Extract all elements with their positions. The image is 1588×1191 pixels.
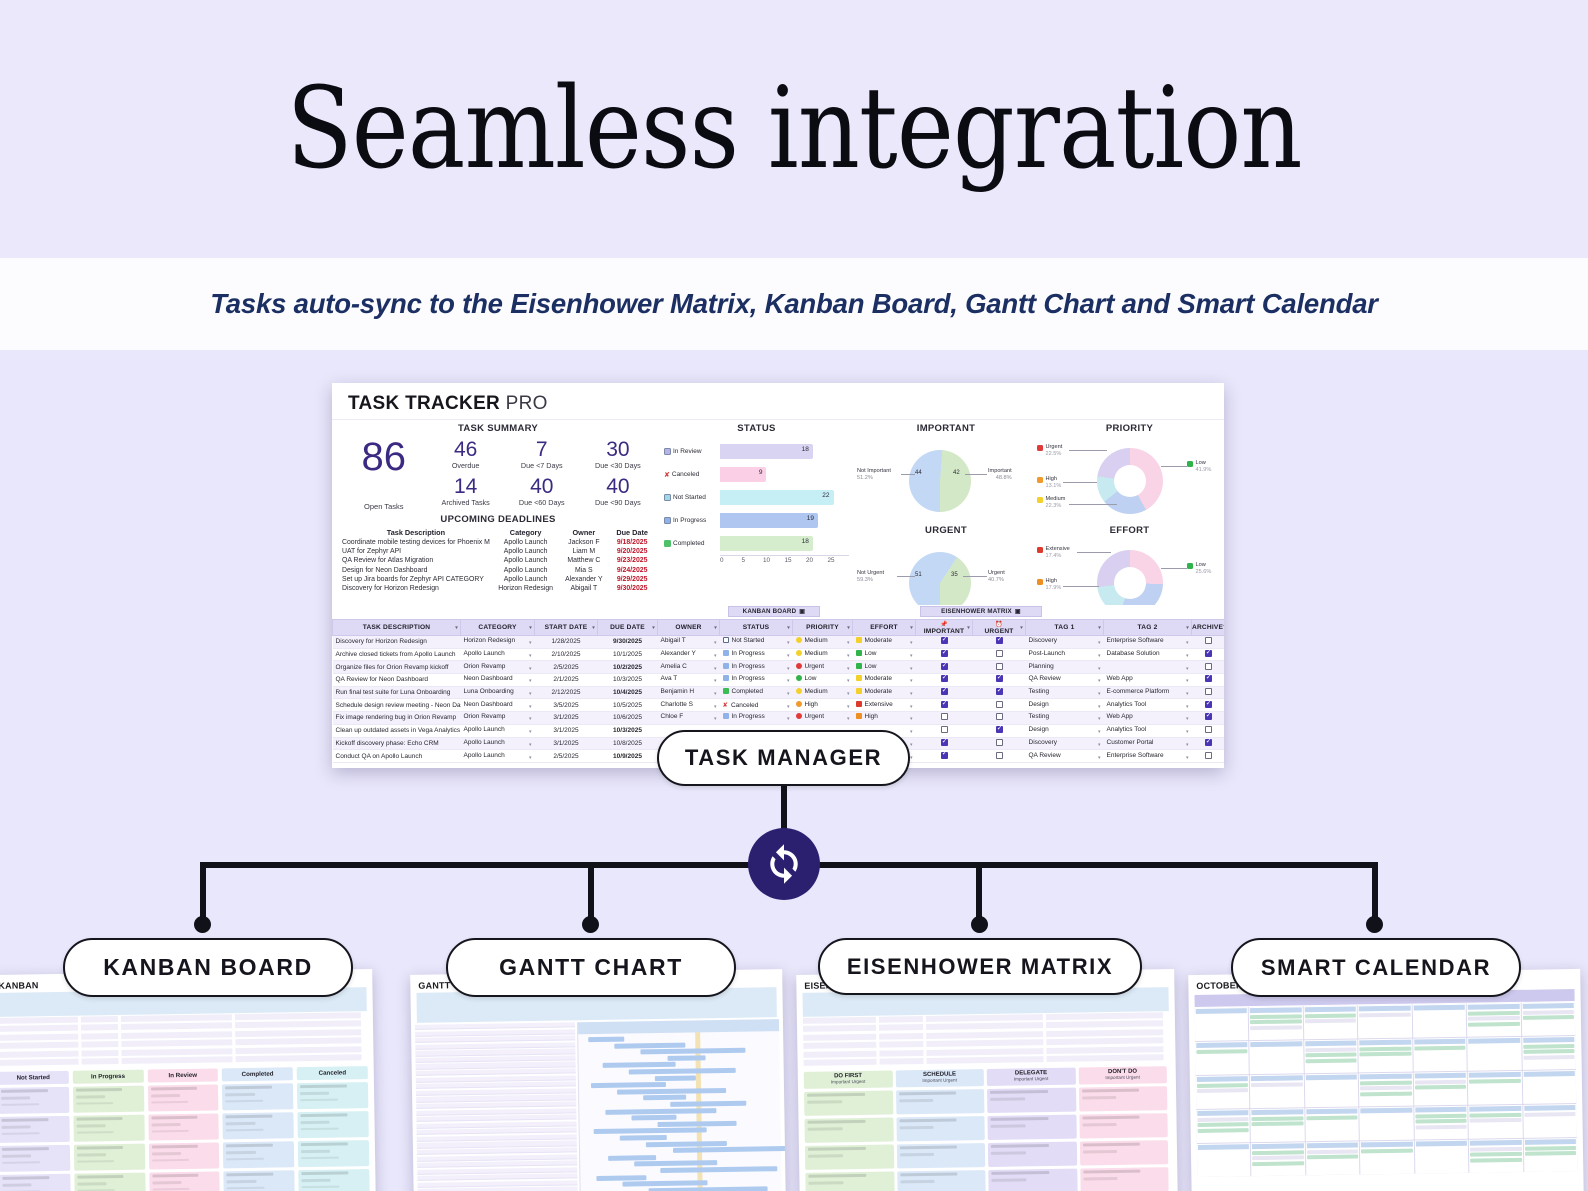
checkbox[interactable] [941, 663, 948, 670]
kanban-card[interactable] [148, 1142, 219, 1169]
connector-gantt [588, 862, 594, 924]
node-task-manager[interactable]: TASK MANAGER [657, 730, 910, 786]
eisenhower-quadrant[interactable]: SCHEDULEImportant Urgent [895, 1069, 986, 1191]
hero-banner: Seamless integration [0, 0, 1588, 258]
gantt-task-list [415, 1022, 578, 1191]
gantt-bar [670, 1101, 746, 1107]
kpi-cell: 7Due <7 Days [504, 438, 580, 475]
status-bar-row: In Progress 19 [664, 509, 849, 532]
gantt-bar [667, 1055, 705, 1061]
checkbox[interactable] [1205, 637, 1212, 644]
eisenhower-card[interactable] [987, 1088, 1076, 1113]
calendar-day-cell[interactable] [1251, 1108, 1305, 1142]
priority-legend-medium: Medium22.3% [1037, 496, 1065, 510]
upcoming-deadlines-table: Task Description Category Owner Due Date… [340, 527, 656, 593]
kanban-card[interactable] [74, 1173, 145, 1191]
grid-col-urgent[interactable]: ⏰URGENT▾ [973, 620, 1026, 636]
checkbox[interactable] [941, 701, 948, 708]
kanban-card[interactable] [148, 1113, 219, 1140]
eisenhower-card[interactable] [805, 1171, 894, 1191]
table-row: Coordinate mobile testing devices for Ph… [340, 538, 656, 547]
gantt-bar [672, 1146, 785, 1153]
grid-header-row: TASK DESCRIPTION▾CATEGORY▾START DATE▾DUE… [333, 620, 1225, 636]
grid-col-archive[interactable]: ARCHIVE? [1192, 620, 1225, 636]
calendar-day-cell[interactable] [1196, 1075, 1250, 1109]
eisenhower-summary-rows [797, 1011, 1176, 1066]
grid-col-task-description[interactable]: TASK DESCRIPTION▾ [333, 620, 461, 636]
kanban-card[interactable] [223, 1141, 294, 1168]
checkbox[interactable] [996, 675, 1003, 682]
checkbox[interactable] [996, 739, 1003, 746]
checkbox[interactable] [1205, 650, 1212, 657]
calendar-day-cell[interactable] [1306, 1141, 1360, 1175]
node-smart-calendar[interactable]: SMART CALENDAR [1231, 938, 1521, 997]
gantt-timeline [577, 1019, 782, 1191]
table-row: Design for Neon DashboardApollo LaunchMi… [340, 566, 656, 575]
checkbox[interactable] [996, 637, 1003, 644]
grid-tabs: KANBAN BOARD ▣ EISENHOWER MATRIX ▣ [332, 605, 1224, 619]
status-chart-panel: STATUS In Review 18✘Canceled 9Not Starte… [662, 420, 857, 605]
calendar-grid [1195, 1002, 1578, 1177]
gantt-bar [629, 1068, 736, 1075]
col-owner: Owner [559, 527, 608, 538]
gantt-timeline-header [578, 1019, 779, 1034]
gantt-bar [655, 1075, 695, 1081]
kanban-card[interactable] [0, 1116, 70, 1143]
kpi-cell: 46Overdue [428, 438, 504, 475]
calendar-day-cell[interactable] [1358, 1005, 1412, 1039]
calendar-day-cell[interactable] [1523, 1104, 1577, 1138]
tab-kanban-board[interactable]: KANBAN BOARD ▣ [728, 606, 820, 617]
kanban-card[interactable] [73, 1115, 144, 1142]
kpi-open-tasks: 86 Open Tasks [340, 438, 428, 511]
status-bar-row: ✘Canceled 9 [664, 463, 849, 486]
kanban-card[interactable] [298, 1169, 369, 1191]
calendar-day-cell[interactable] [1359, 1073, 1413, 1107]
sync-refresh-icon [748, 828, 820, 900]
status-bar-row: In Review 18 [664, 440, 849, 463]
gantt-bar [632, 1115, 676, 1121]
checkbox[interactable] [996, 701, 1003, 708]
calendar-day-cell[interactable] [1196, 1109, 1250, 1143]
calendar-day-cell[interactable] [1412, 1004, 1466, 1038]
kpi-cell: 40Due <60 Days [504, 475, 580, 512]
eisenhower-card[interactable] [988, 1169, 1077, 1191]
important-pie-graphic [909, 450, 971, 512]
checkbox[interactable] [996, 713, 1003, 720]
kanban-summary-rows [0, 1011, 374, 1066]
checkbox[interactable] [1205, 663, 1212, 670]
table-row: Discovery for Horizon RedesignHorizon Re… [340, 584, 656, 593]
calendar-day-cell[interactable] [1521, 1002, 1575, 1036]
grid-col-category[interactable]: CATEGORY▾ [461, 620, 535, 636]
priority-donut: Urgent22.5% High13.1% Medium22.3% Low41.… [1035, 438, 1224, 523]
kpi-grid: 86 Open Tasks 46Overdue 7Due <7 Days 30D… [340, 438, 656, 511]
node-eisenhower-matrix[interactable]: EISENHOWER MATRIX [818, 938, 1142, 995]
urgent-pie-label-right: Urgent40.7% [988, 570, 1005, 584]
kanban-card[interactable] [224, 1170, 295, 1191]
grid-col-important[interactable]: 📌IMPORTANT▾ [916, 620, 973, 636]
checkbox[interactable] [1205, 726, 1212, 733]
table-row: Set up Jira boards for Zephyr API CATEGO… [340, 575, 656, 584]
page-title: Seamless integration [286, 73, 1301, 185]
table-row[interactable]: Discovery for Horizon RedesignHorizon Re… [333, 636, 1225, 649]
status-bar-row: Not Started 22 [664, 486, 849, 509]
table-row[interactable]: Archive closed tickets from Apollo Launc… [333, 648, 1225, 661]
calendar-day-cell[interactable] [1522, 1070, 1576, 1104]
connector-root-vertical [781, 786, 787, 832]
gantt-bar [641, 1048, 746, 1055]
eisenhower-card[interactable] [896, 1143, 985, 1168]
calendar-day-cell[interactable] [1359, 1039, 1413, 1073]
kanban-card[interactable] [149, 1171, 220, 1191]
checkbox[interactable] [1205, 713, 1212, 720]
dashboard-card: TASK TRACKER PRO TASK SUMMARY 86 Open Ta… [332, 383, 1224, 768]
eisenhower-card[interactable] [987, 1115, 1076, 1140]
calendar-day-cell[interactable] [1195, 1041, 1249, 1075]
table-row: UAT for Zephyr APIApollo LaunchLiam M9/2… [340, 547, 656, 556]
task-summary-heading: TASK SUMMARY [340, 423, 656, 434]
grid-col-start-date[interactable]: START DATE▾ [535, 620, 598, 636]
checkbox[interactable] [996, 663, 1003, 670]
priority-legend-low: Low41.9% [1187, 460, 1211, 474]
gantt-bar [646, 1141, 726, 1147]
connector-knob [582, 916, 599, 933]
status-bar-row: Completed 18 [664, 532, 849, 555]
checkbox[interactable] [1205, 752, 1212, 759]
eisenhower-card[interactable] [1079, 1113, 1168, 1138]
gantt-bar [620, 1135, 666, 1141]
checkbox[interactable] [996, 752, 1003, 759]
priority-legend-urgent: Urgent22.5% [1037, 444, 1062, 458]
kanban-card[interactable] [148, 1084, 219, 1111]
checkbox[interactable] [941, 688, 948, 695]
status-axis: 0510152025 [720, 555, 849, 564]
gantt-bar [644, 1095, 686, 1101]
urgent-pie-value-left: 51 [915, 572, 922, 578]
effort-legend-low: Low25.6% [1187, 562, 1211, 576]
table-row: QA Review for Atlas MigrationApollo Laun… [340, 556, 656, 565]
calendar-day-cell[interactable] [1250, 1040, 1304, 1074]
urgent-pie-label-left: Not Urgent59.3% [857, 570, 884, 584]
connector-calendar [1372, 862, 1378, 924]
kpi-open-value: 86 [362, 438, 407, 476]
kanban-column[interactable]: In Review [147, 1068, 221, 1191]
important-pie-title: IMPORTANT [857, 423, 1035, 434]
important-pie-label-left: Not Important51.2% [857, 468, 891, 482]
kpi-cell: 30Due <30 Days [580, 438, 656, 475]
table-row[interactable]: Organize files for Orion Revamp kickoffO… [333, 661, 1225, 674]
grid-col-tag[interactable]: TAG 1▾ [1026, 620, 1104, 636]
calendar-day-cell[interactable] [1250, 1074, 1304, 1108]
calendar-day-cell[interactable] [1414, 1106, 1468, 1140]
gantt-bar [649, 1186, 768, 1191]
grid-col-due-date[interactable]: DUE DATE▾ [598, 620, 658, 636]
grid-col-priority[interactable]: PRIORITY▾ [793, 620, 853, 636]
table-row[interactable]: Schedule design review meeting - Neon Da… [333, 699, 1225, 712]
col-task-description: Task Description [340, 527, 492, 538]
important-pie: Not Important51.2% 44 42 Important48.8% [857, 438, 1035, 523]
kanban-preview-card[interactable]: KANBAN Not StartedIn ProgressIn ReviewCo… [0, 969, 376, 1191]
gantt-bar [603, 1062, 675, 1068]
eisenhower-card[interactable] [805, 1144, 894, 1169]
node-kanban-board[interactable]: KANBAN BOARD [63, 938, 353, 997]
checkbox[interactable] [941, 726, 948, 733]
priority-donut-title: PRIORITY [1035, 423, 1224, 434]
dashboard-title: TASK TRACKER PRO [348, 393, 548, 414]
priority-legend-high: High13.1% [1037, 476, 1061, 490]
checkbox[interactable] [941, 739, 948, 746]
checkbox[interactable] [1205, 675, 1212, 682]
eisenhower-card[interactable] [1079, 1140, 1168, 1165]
dashboard-body: TASK SUMMARY 86 Open Tasks 46Overdue 7Du… [332, 419, 1224, 605]
gantt-bar [608, 1155, 656, 1161]
dashboard-title-light: PRO [506, 393, 548, 414]
gantt-bar [623, 1180, 707, 1186]
link-icon: ▣ [799, 608, 805, 615]
connector-knob [194, 916, 211, 933]
calendar-day-cell[interactable] [1305, 1107, 1359, 1141]
gantt-bar [661, 1166, 778, 1173]
gantt-bar [615, 1042, 685, 1048]
important-pie-label-right: Important48.8% [988, 468, 1012, 482]
calendar-day-cell[interactable] [1468, 1071, 1522, 1105]
donut-charts-panel: PRIORITY Urgent22.5% High13.1% Medium22.… [1035, 420, 1224, 605]
subtitle-bar: Tasks auto-sync to the Eisenhower Matrix… [0, 258, 1588, 350]
grid-col-effort[interactable]: EFFORT▾ [853, 620, 916, 636]
gantt-preview-card[interactable]: GANTT C [410, 969, 786, 1191]
kanban-card[interactable] [74, 1144, 145, 1171]
kanban-card[interactable] [73, 1086, 144, 1113]
checkbox[interactable] [941, 650, 948, 657]
kanban-card[interactable] [0, 1145, 70, 1172]
eisenhower-card[interactable] [804, 1117, 893, 1142]
eisenhower-card[interactable] [1080, 1167, 1169, 1191]
calendar-day-cell[interactable] [1467, 1003, 1521, 1037]
calendar-day-cell[interactable] [1413, 1038, 1467, 1072]
calendar-day-cell[interactable] [1468, 1105, 1522, 1139]
calendar-day-cell[interactable] [1467, 1037, 1521, 1071]
kanban-card[interactable] [0, 1174, 71, 1191]
checkbox[interactable] [941, 713, 948, 720]
eisenhower-quadrants: DO FIRSTImportant UrgentSCHEDULEImportan… [798, 1062, 1178, 1191]
calendar-day-cell[interactable] [1469, 1139, 1523, 1173]
eisenhower-quadrant[interactable]: DON'T DOImportant Urgent [1078, 1066, 1169, 1191]
checkbox[interactable] [1205, 688, 1212, 695]
table-header-row: Task Description Category Owner Due Date [340, 527, 656, 538]
connector-knob [1366, 916, 1383, 933]
urgent-pie-value-right: 35 [951, 572, 958, 578]
eisenhower-card[interactable] [988, 1142, 1077, 1167]
page-root: Seamless integration Tasks auto-sync to … [0, 0, 1588, 1191]
kanban-card[interactable] [222, 1083, 293, 1110]
eisenhower-preview-card[interactable]: EISEN DO FIRSTImportant UrgentSCHEDULEIm… [796, 969, 1178, 1191]
checkbox[interactable] [1205, 701, 1212, 708]
kanban-columns: Not StartedIn ProgressIn ReviewCompleted… [0, 1062, 376, 1191]
upcoming-deadlines-heading: UPCOMING DEADLINES [340, 514, 656, 525]
connector-eisenhower [976, 862, 982, 924]
kpi-cell: 14Archived Tasks [428, 475, 504, 512]
kanban-column[interactable]: Not Started [0, 1071, 71, 1191]
kanban-card[interactable] [298, 1111, 369, 1138]
eisenhower-card[interactable] [897, 1170, 986, 1191]
calendar-day-cell[interactable] [1197, 1143, 1251, 1177]
calendar-day-cell[interactable] [1304, 1039, 1358, 1073]
checkbox[interactable] [941, 637, 948, 644]
kpi-cell: 40Due <90 Days [580, 475, 656, 512]
effort-donut-title: EFFORT [1035, 525, 1224, 536]
status-bars: In Review 18✘Canceled 9Not Started 22In … [664, 440, 849, 555]
gantt-bar [635, 1161, 717, 1167]
calendar-day-cell[interactable] [1360, 1107, 1414, 1141]
table-row[interactable]: Fix image rendering bug in Orion RevampO… [333, 712, 1225, 725]
kanban-card[interactable] [297, 1082, 368, 1109]
urgent-pie-title: URGENT [857, 525, 1035, 536]
subtitle-text: Tasks auto-sync to the Eisenhower Matrix… [210, 288, 1378, 320]
kanban-card[interactable] [298, 1140, 369, 1167]
gantt-bar [591, 1082, 665, 1088]
checkbox[interactable] [1205, 739, 1212, 746]
grid-col-status[interactable]: STATUS▾ [720, 620, 793, 636]
effort-legend-extensive: Extensive17.4% [1037, 546, 1070, 560]
kanban-column[interactable]: In Progress [73, 1070, 147, 1191]
calendar-preview-card[interactable]: OCTOBER 2 [1188, 969, 1584, 1191]
gantt-bar [588, 1037, 624, 1043]
eisenhower-quadrant[interactable]: DELEGATEImportant Urgent [987, 1068, 1078, 1191]
col-due-date: Due Date [608, 527, 656, 538]
dashboard-header: TASK TRACKER PRO [332, 383, 1224, 419]
kanban-column[interactable]: Canceled [297, 1066, 371, 1191]
grid-col-owner[interactable]: OWNER▾ [658, 620, 720, 636]
important-pie-value-left: 44 [915, 470, 922, 476]
checkbox[interactable] [996, 688, 1003, 695]
checkbox[interactable] [941, 675, 948, 682]
checkbox[interactable] [996, 650, 1003, 657]
eisenhower-card[interactable] [896, 1089, 985, 1114]
col-category: Category [492, 527, 560, 538]
calendar-day-cell[interactable] [1251, 1142, 1305, 1176]
calendar-day-cell[interactable] [1305, 1073, 1359, 1107]
task-summary-panel: TASK SUMMARY 86 Open Tasks 46Overdue 7Du… [332, 420, 662, 605]
status-chart-title: STATUS [664, 423, 849, 434]
checkbox[interactable] [996, 726, 1003, 733]
kanban-column[interactable]: Completed [222, 1067, 296, 1191]
calendar-day-cell[interactable] [1413, 1072, 1467, 1106]
calendar-day-cell[interactable] [1195, 1007, 1249, 1041]
gantt-bar [597, 1175, 647, 1181]
dashboard-title-bold: TASK TRACKER [348, 393, 500, 414]
eisenhower-card[interactable] [804, 1090, 893, 1115]
eisenhower-quadrant[interactable]: DO FIRSTImportant Urgent [804, 1070, 895, 1191]
gantt-bar [594, 1128, 707, 1135]
node-gantt-chart[interactable]: GANTT CHART [446, 938, 736, 997]
connector-knob [971, 916, 988, 933]
pie-charts-panel: IMPORTANT Not Important51.2% 44 42 Impor… [857, 420, 1035, 605]
gantt-body [411, 1017, 786, 1191]
calendar-day-cell[interactable] [1304, 1005, 1358, 1039]
table-row[interactable]: QA Review for Neon DashboardNeon Dashboa… [333, 674, 1225, 687]
calendar-day-cell[interactable] [1523, 1138, 1577, 1172]
calendar-day-cell[interactable] [1360, 1141, 1414, 1175]
effort-legend-high: High17.9% [1037, 578, 1061, 592]
tab-eisenhower-matrix[interactable]: EISENHOWER MATRIX ▣ [920, 606, 1042, 617]
calendar-day-cell[interactable] [1522, 1036, 1576, 1070]
link-icon: ▣ [1015, 608, 1021, 615]
table-row[interactable]: Run final test suite for Luna Onboarding… [333, 686, 1225, 699]
gantt-bar [617, 1088, 726, 1095]
eisenhower-card[interactable] [1079, 1086, 1168, 1111]
kanban-card[interactable] [223, 1112, 294, 1139]
kpi-open-label: Open Tasks [364, 502, 403, 511]
grid-col-tag[interactable]: TAG 2▾ [1104, 620, 1192, 636]
connector-kanban [200, 862, 206, 924]
important-pie-value-right: 42 [953, 470, 960, 476]
kanban-card[interactable] [0, 1087, 69, 1114]
calendar-day-cell[interactable] [1415, 1140, 1469, 1174]
checkbox[interactable] [941, 752, 948, 759]
calendar-day-cell[interactable] [1249, 1006, 1303, 1040]
gantt-bar [658, 1121, 736, 1127]
eisenhower-card[interactable] [896, 1116, 985, 1141]
